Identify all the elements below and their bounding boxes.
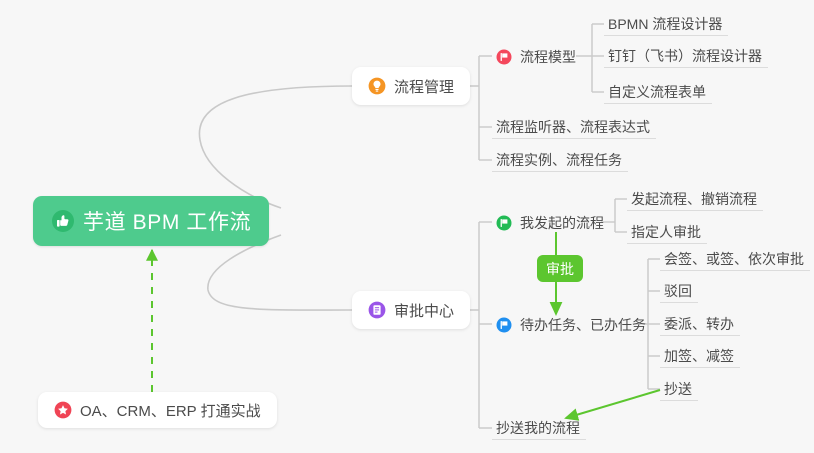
note-label-integration: OA、CRM、ERP 打通实战: [80, 400, 261, 421]
branch-label-process-management: 流程管理: [394, 76, 454, 97]
edge-root-to-approval-center: [208, 235, 352, 310]
node-label-custom-form: 自定义流程表单: [608, 84, 706, 100]
node-assignee-approval[interactable]: 指定人审批: [627, 218, 707, 244]
annotation-tag-label: 审批: [546, 259, 574, 279]
node-label-carbon-copy: 抄送: [664, 381, 692, 397]
node-label-bpmn-designer: BPMN 流程设计器: [608, 16, 722, 32]
node-label-dingtalk-designer: 钉钉（飞书）流程设计器: [608, 48, 762, 64]
annotation-tag-approval: 审批: [537, 255, 583, 282]
node-process-model[interactable]: 流程模型: [492, 42, 582, 68]
lightbulb-icon: [368, 77, 386, 95]
node-label-process-model: 流程模型: [520, 49, 576, 65]
document-icon: [368, 301, 386, 319]
node-label-process-listener: 流程监听器、流程表达式: [496, 119, 650, 135]
node-label-add-remove-sign: 加签、减签: [664, 348, 734, 364]
node-label-delegate-transfer: 委派、转办: [664, 316, 734, 332]
node-reject[interactable]: 驳回: [660, 277, 698, 303]
root-label: 芋道 BPM 工作流: [83, 206, 251, 236]
branch-label-approval-center: 审批中心: [394, 300, 454, 321]
thumbs-up-icon: [51, 209, 75, 233]
node-add-remove-sign[interactable]: 加签、减签: [660, 342, 740, 368]
flag-icon: [496, 215, 512, 231]
node-label-todo-done-tasks: 待办任务、已办任务: [520, 317, 646, 333]
node-bpmn-designer[interactable]: BPMN 流程设计器: [604, 10, 728, 36]
mindmap-canvas: 芋道 BPM 工作流 流程管理 流程模型 BPMN 流程设计器 钉钉（飞书: [0, 0, 814, 453]
star-icon: [54, 401, 72, 419]
node-label-countersign: 会签、或签、依次审批: [664, 251, 804, 267]
node-my-started-processes[interactable]: 我发起的流程: [492, 208, 610, 234]
node-todo-done-tasks[interactable]: 待办任务、已办任务: [492, 310, 652, 336]
flag-icon: [496, 317, 512, 333]
branch-node-process-management[interactable]: 流程管理: [352, 67, 470, 105]
node-delegate-transfer[interactable]: 委派、转办: [660, 310, 740, 336]
branch-node-approval-center[interactable]: 审批中心: [352, 291, 470, 329]
node-custom-form[interactable]: 自定义流程表单: [604, 78, 712, 104]
node-dingtalk-designer[interactable]: 钉钉（飞书）流程设计器: [604, 42, 768, 68]
node-process-instance[interactable]: 流程实例、流程任务: [492, 146, 628, 172]
root-node[interactable]: 芋道 BPM 工作流: [33, 196, 269, 246]
edge-root-to-process-management: [199, 86, 352, 208]
node-carbon-copy[interactable]: 抄送: [660, 375, 698, 401]
node-label-process-instance: 流程实例、流程任务: [496, 152, 622, 168]
note-node-integration[interactable]: OA、CRM、ERP 打通实战: [38, 392, 277, 428]
node-label-assignee-approval: 指定人审批: [631, 224, 701, 240]
node-start-cancel-process[interactable]: 发起流程、撤销流程: [627, 185, 763, 211]
node-label-start-cancel-process: 发起流程、撤销流程: [631, 191, 757, 207]
node-countersign[interactable]: 会签、或签、依次审批: [660, 245, 810, 271]
node-label-copied-to-me: 抄送我的流程: [496, 420, 580, 436]
node-copied-to-me[interactable]: 抄送我的流程: [492, 414, 586, 440]
node-label-reject: 驳回: [664, 283, 692, 299]
node-process-listener[interactable]: 流程监听器、流程表达式: [492, 113, 656, 139]
flag-icon: [496, 49, 512, 65]
node-label-my-started-processes: 我发起的流程: [520, 215, 604, 231]
